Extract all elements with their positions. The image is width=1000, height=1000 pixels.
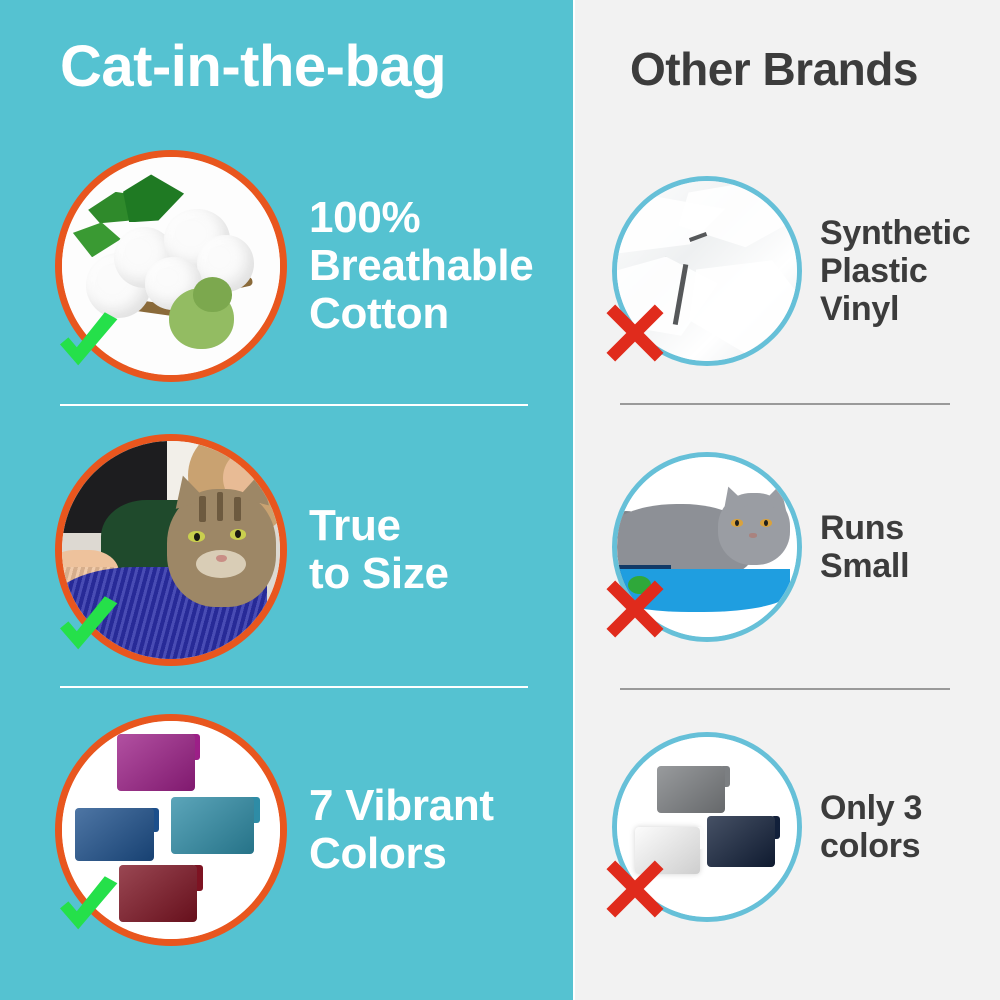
swatch-navy-dark (707, 816, 775, 866)
feature-label-runs-small: Runs Small (820, 509, 909, 585)
three-colors-photo (612, 732, 802, 922)
left-feature-row-vibrant-colors: 7 Vibrant Colors (55, 714, 555, 946)
right-panel-title: Other Brands (630, 44, 918, 94)
plastic-sheeting-photo (612, 176, 802, 366)
right-divider-2 (620, 688, 950, 690)
gray-cat-small-bag-photo (612, 452, 802, 642)
cat-in-bag-photo (55, 434, 287, 666)
right-feature-row-plastic: Synthetic Plastic Vinyl (612, 176, 992, 366)
left-divider-1 (60, 404, 528, 406)
cotton-bolls-photo (55, 150, 287, 382)
plastic-sheeting-circle (612, 176, 802, 366)
right-feature-row-runs-small: Runs Small (612, 452, 992, 642)
feature-label-only-3-colors: Only 3 colors (820, 789, 922, 865)
left-feature-row-true-to-size: True to Size (55, 434, 555, 666)
left-panel-title: Cat-in-the-bag (60, 36, 446, 98)
swatch-navy (75, 808, 153, 860)
feature-label-true-to-size: True to Size (309, 502, 449, 598)
swatch-darkred (119, 865, 197, 922)
right-feature-row-only-3-colors: Only 3 colors (612, 732, 992, 922)
feature-label-breathable-cotton: 100% Breathable Cotton (309, 194, 533, 338)
feature-label-vibrant-colors: 7 Vibrant Colors (309, 782, 494, 878)
right-divider-1 (620, 403, 950, 405)
color-swatches-photo (55, 714, 287, 946)
color-swatches-circle (55, 714, 287, 946)
swatch-gray (657, 766, 725, 813)
three-colors-circle (612, 732, 802, 922)
comparison-infographic: Cat-in-the-bag (0, 0, 1000, 1000)
left-feature-row-cotton: 100% Breathable Cotton (55, 150, 555, 382)
cotton-bolls-circle (55, 150, 287, 382)
feature-label-synthetic-plastic-vinyl: Synthetic Plastic Vinyl (820, 214, 970, 328)
swatch-white (635, 827, 700, 874)
swatch-teal (171, 797, 254, 854)
swatch-purple (117, 734, 195, 791)
cat-in-bag-circle (55, 434, 287, 666)
gray-cat-small-bag-circle (612, 452, 802, 642)
left-divider-2 (60, 686, 528, 688)
